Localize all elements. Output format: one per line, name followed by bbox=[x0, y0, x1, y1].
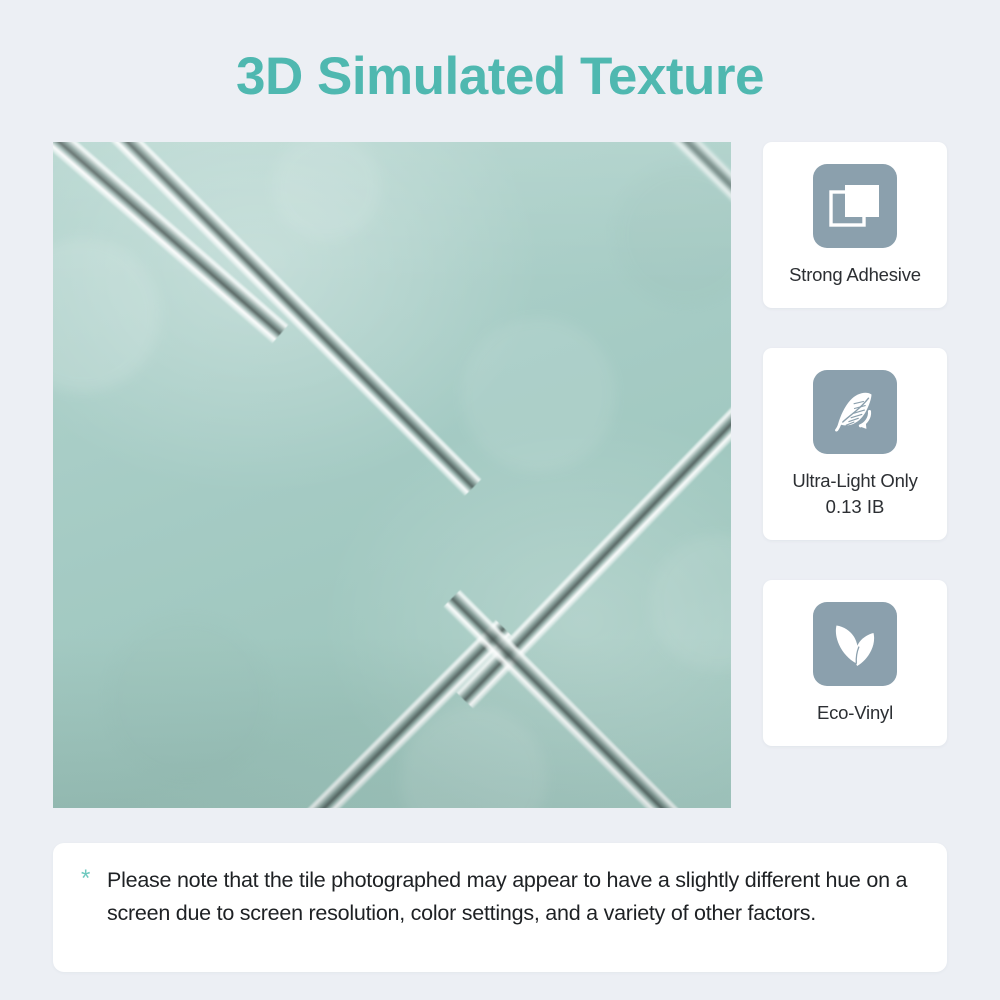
feature-card-strong-adhesive[interactable]: Strong Adhesive bbox=[763, 142, 947, 308]
disclaimer-text: Please note that the tile photographed m… bbox=[107, 864, 913, 972]
product-photo bbox=[53, 142, 731, 808]
feather-icon bbox=[813, 370, 897, 454]
feature-card-eco-vinyl[interactable]: Eco-Vinyl bbox=[763, 580, 947, 746]
page-title: 3D Simulated Texture bbox=[0, 44, 1000, 110]
feature-sublabel: 0.13 IB bbox=[773, 494, 937, 520]
disclaimer-note: * Please note that the tile photographed… bbox=[53, 843, 947, 972]
feature-label: Strong Adhesive bbox=[773, 262, 937, 288]
feature-card-ultra-light[interactable]: Ultra-Light Only 0.13 IB bbox=[763, 348, 947, 540]
asterisk-icon: * bbox=[81, 864, 107, 972]
leaves-icon bbox=[813, 602, 897, 686]
layers-square-icon bbox=[813, 164, 897, 248]
feature-label: Ultra-Light Only bbox=[773, 468, 937, 494]
feature-label: Eco-Vinyl bbox=[773, 700, 937, 726]
feature-card-list: Strong Adhesive Ultra-Light Only 0.13 IB… bbox=[763, 142, 947, 746]
